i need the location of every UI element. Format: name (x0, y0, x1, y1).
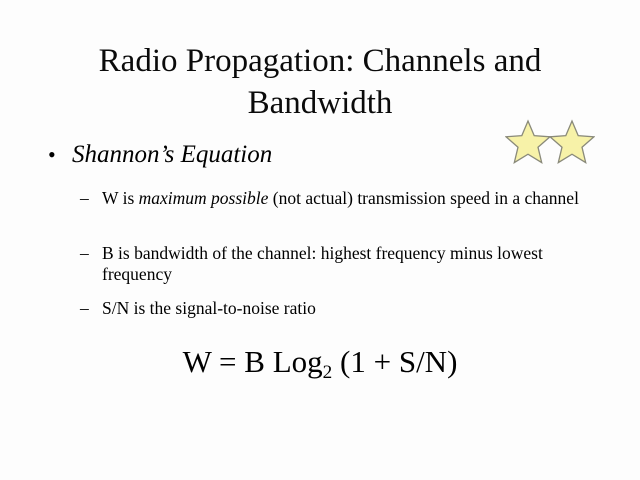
slide-canvas: Radio Propagation: Channels and Bandwidt… (0, 0, 640, 480)
bullet-level1-shannons-equation: • Shannon’s Equation (48, 140, 478, 170)
sub-bullet-prefix: W is (102, 188, 139, 208)
formula-trail: (1 + S/N) (332, 344, 457, 379)
bullet-level2-text: S/N is the signal-to-noise ratio (102, 298, 592, 319)
star-icon (550, 121, 594, 163)
sub-bullet-emphasis: maximum possible (139, 188, 269, 208)
bullet-marker-dash: – (80, 298, 89, 319)
star-decoration-group (505, 118, 595, 166)
bullet-marker-dash: – (80, 188, 89, 209)
formula-lead: W = B Log (183, 344, 323, 379)
star-icon (506, 121, 550, 163)
bullet-level2-b-definition: – B is bandwidth of the channel: highest… (80, 243, 592, 285)
bullet-level2-sn-definition: – S/N is the signal-to-noise ratio (80, 298, 592, 319)
bullet-level2-text: W is maximum possible (not actual) trans… (102, 188, 592, 209)
slide-title: Radio Propagation: Channels and Bandwidt… (28, 40, 612, 124)
formula-subscript: 2 (323, 362, 333, 383)
shannon-formula: W = B Log2 (1 + S/N) (60, 342, 580, 382)
slide-title-line-1: Radio Propagation: Channels and (28, 40, 612, 82)
bullet-marker-dash: – (80, 243, 89, 264)
sub-bullet-suffix: (not actual) transmission speed in a cha… (268, 188, 579, 208)
bullet-level1-label: Shannon’s Equation (72, 140, 478, 170)
bullet-level2-w-definition: – W is maximum possible (not actual) tra… (80, 188, 592, 209)
bullet-marker-dot: • (48, 140, 56, 170)
bullet-level2-text: B is bandwidth of the channel: highest f… (102, 243, 592, 285)
